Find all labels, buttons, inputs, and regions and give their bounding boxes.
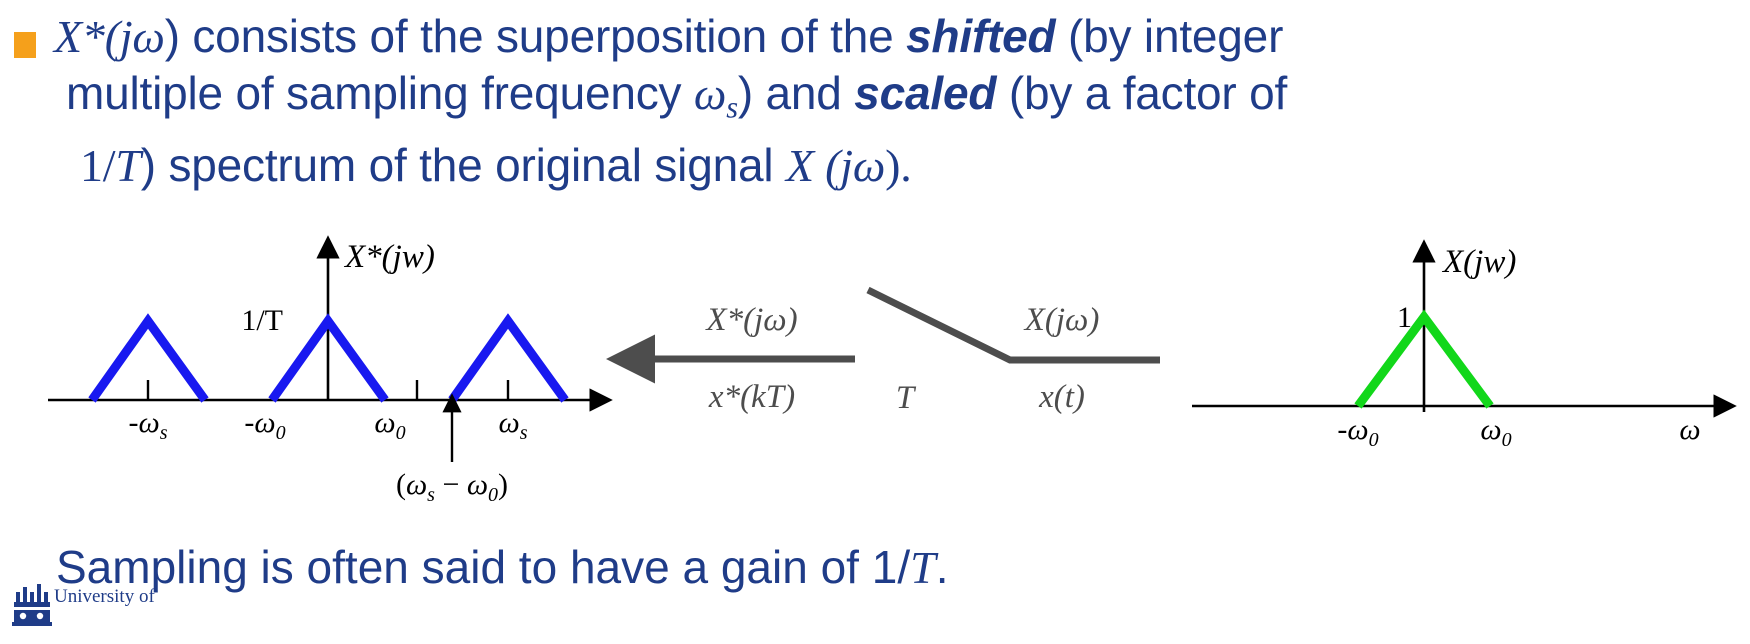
chart-title-right-text: X(jw) (1441, 244, 1516, 280)
peak-label-left: 1/T (241, 304, 283, 337)
footer-text-T: T (910, 542, 936, 593)
bullet-line-2-text-b: ) and (738, 67, 854, 119)
label-T-text: T (896, 380, 917, 416)
xtick-label-minus-omega-0: -ω0 (244, 406, 285, 444)
annotation-omega-difference: (ωs − ω0) (396, 468, 508, 506)
bullet-line-1-text-b: ) consists of the superposition of the (165, 10, 906, 62)
xtick-1-sub: 0 (276, 422, 286, 444)
chart-title-left: X*(jw) (343, 239, 435, 275)
label-Xstar-w: ω (763, 302, 786, 338)
xtick-label-right-omega-0: ω0 (1480, 413, 1511, 451)
label-xstar-b: ) (782, 379, 795, 415)
slide-canvas: X*(jω) consists of the superposition of … (0, 0, 1750, 644)
chart-original-spectrum: X(jw) 1 -ω0 ω0 ω (1192, 244, 1716, 451)
xtick-label-omega-s: ωs (499, 406, 528, 444)
bullet-text-block: X*(jω) consists of the superposition of … (10, 8, 1710, 194)
ann-s1: s (427, 484, 435, 506)
bullet-line-1: X*(jω) consists of the superposition of … (10, 8, 1710, 65)
rtick-1-main: ω (1480, 413, 1501, 446)
label-xstar-a: x*(k (708, 379, 767, 415)
math-omega-1: ω (132, 11, 164, 62)
keyword-scaled: scaled (854, 67, 996, 119)
math-omega-3: ω (853, 140, 885, 191)
math-close-period: ). (885, 140, 911, 191)
xtick-2-main: ω (374, 406, 395, 439)
ann-w2: ω (467, 468, 488, 501)
rtick-0-main: -ω (1337, 413, 1368, 446)
label-Xstar-a: X*(j (704, 302, 763, 338)
rtick-0-sub: 0 (1369, 429, 1379, 451)
axis-label-omega-text: ω (1679, 413, 1700, 446)
label-Xjw-w: ω (1065, 302, 1088, 338)
keyword-shifted: shifted (906, 10, 1055, 62)
label-xt-b: ) (1072, 379, 1085, 415)
bullet-line-2: multiple of sampling frequency ωs) and s… (10, 65, 1710, 137)
label-sampling-period-T: T (896, 380, 917, 416)
chart-sampled-spectrum: X*(jw) 1/T -ωs -ω0 ω0 ωs (ωs − ω0) (48, 239, 592, 506)
xtick-3-main: ω (499, 406, 520, 439)
ann-open: ( (396, 468, 406, 501)
xtick-label-omega-0: ω0 (374, 406, 405, 444)
footer-sentence: Sampling is often said to have a gain of… (56, 541, 948, 594)
rtick-1-sub: 0 (1502, 429, 1512, 451)
math-jw-open: (j (814, 140, 853, 191)
label-X-jw-input: X(jω) (1023, 302, 1100, 338)
xtick-0-main: -ω (129, 406, 160, 439)
label-x-t-input: x(t) (1038, 379, 1085, 415)
peak-label-right: 1 (1397, 301, 1412, 334)
bullet-line-3: 1/T) spectrum of the original signal X (… (10, 137, 1710, 194)
chart-title-left-text: X*(jw) (343, 239, 435, 275)
math-omega-s-sub: s (726, 91, 738, 125)
university-logo: University of (10, 570, 160, 644)
peak-label-left-text: 1/T (241, 304, 283, 337)
label-xt-a: x( (1038, 379, 1067, 415)
peak-label-right-text: 1 (1397, 301, 1412, 334)
label-Xstar-b: ) (785, 302, 798, 338)
label-Xjw-b: ) (1086, 302, 1099, 338)
footer-text-b: . (936, 541, 949, 593)
xtick-2-sub: 0 (396, 422, 406, 444)
bullet-line-1-text-c: (by integer (1055, 10, 1283, 62)
xtick-1-main: -ω (244, 406, 275, 439)
diagram-sampler: X*(jω) x*(kT) T X(jω) x(t) (648, 290, 1160, 416)
ann-close: ) (498, 468, 508, 501)
logo-wordmark: University of (54, 586, 155, 607)
ann-minus: − (435, 468, 467, 501)
label-x-star-kT: x*(kT) (708, 379, 795, 415)
xtick-3-sub: s (520, 422, 528, 444)
xtick-label-minus-omega-s: -ωs (129, 406, 168, 444)
xtick-0-sub: s (160, 422, 168, 444)
ann-s2: 0 (488, 484, 498, 506)
xtick-label-right-minus-omega-0: -ω0 (1337, 413, 1378, 451)
math-omega-s: ω (694, 68, 726, 119)
footer-text-a: Sampling is often said to have a gain of… (56, 541, 910, 593)
math-one-over: 1/ (80, 140, 115, 191)
bullet-line-2-text-a: multiple of sampling frequency (66, 67, 694, 119)
bullet-line-3-text-b: ) spectrum of the original signal (141, 139, 786, 191)
math-X-1: X (786, 140, 814, 191)
switch-contact-line (868, 290, 1160, 360)
label-Xjw-a: X(j (1023, 302, 1065, 338)
ann-w1: ω (406, 468, 427, 501)
label-X-star-jw: X*(jω) (704, 302, 797, 338)
bullet-square-icon (14, 32, 36, 58)
math-x-star-jw: X*(j (54, 11, 132, 62)
castle-crest-icon (12, 584, 52, 626)
bullet-line-2-text-c: (by a factor of (996, 67, 1287, 119)
chart-title-right: X(jw) (1441, 244, 1516, 280)
math-T-1: T (115, 140, 140, 191)
axis-label-omega-right: ω (1679, 413, 1700, 446)
figure-sampling-spectra: X*(jw) 1/T -ωs -ω0 ω0 ωs (ωs − ω0) (0, 232, 1750, 532)
